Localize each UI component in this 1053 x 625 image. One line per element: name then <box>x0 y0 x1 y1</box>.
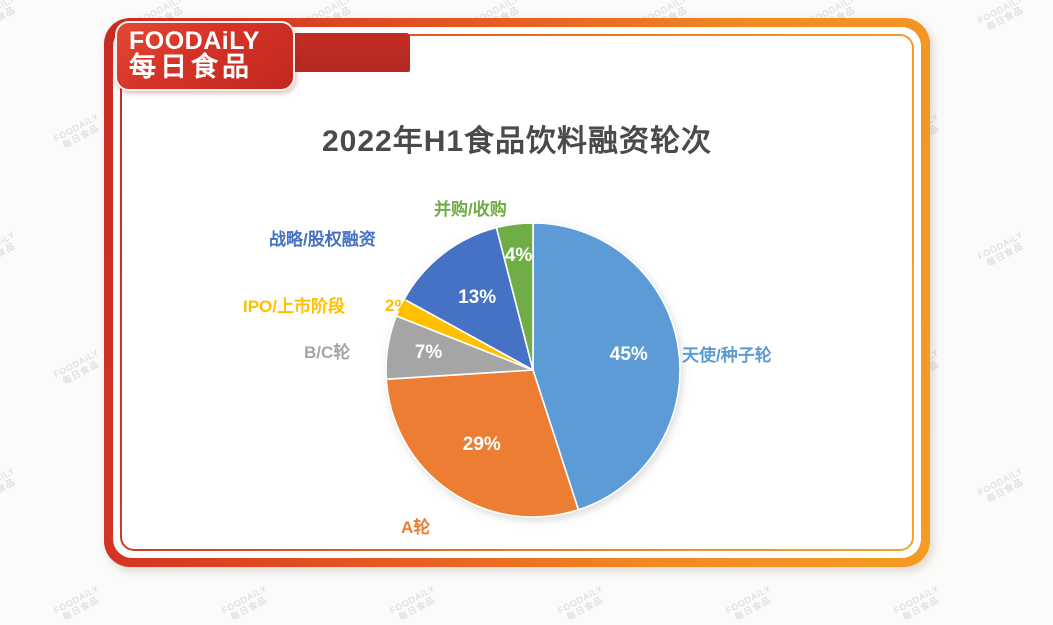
logo-text-cn: 每日食品 <box>129 54 253 81</box>
poster-inner-border <box>120 34 914 551</box>
watermark-text: FOODAiLY每日食品 <box>892 584 946 625</box>
watermark-text: FOODAiLY每日食品 <box>724 584 778 625</box>
watermark-text: FOODAiLY每日食品 <box>52 112 106 154</box>
watermark-text: FOODAiLY每日食品 <box>0 230 22 272</box>
watermark-text: FOODAiLY每日食品 <box>388 584 442 625</box>
watermark-text: FOODAiLY每日食品 <box>52 348 106 390</box>
watermark-text: FOODAiLY每日食品 <box>976 0 1030 35</box>
brand-logo: FOODAiLY 每日食品 <box>115 21 295 91</box>
poster-card-frame <box>104 18 930 567</box>
watermark-text: FOODAiLY每日食品 <box>556 584 610 625</box>
watermark-text: FOODAiLY每日食品 <box>52 584 106 625</box>
logo-text-en: FOODAiLY <box>129 29 260 54</box>
watermark-text: FOODAiLY每日食品 <box>0 466 22 508</box>
watermark-text: FOODAiLY每日食品 <box>0 0 22 35</box>
watermark-text: FOODAiLY每日食品 <box>976 466 1030 508</box>
watermark-text: FOODAiLY每日食品 <box>220 584 274 625</box>
poster-card-inner <box>113 27 921 558</box>
watermark-text: FOODAiLY每日食品 <box>976 230 1030 272</box>
